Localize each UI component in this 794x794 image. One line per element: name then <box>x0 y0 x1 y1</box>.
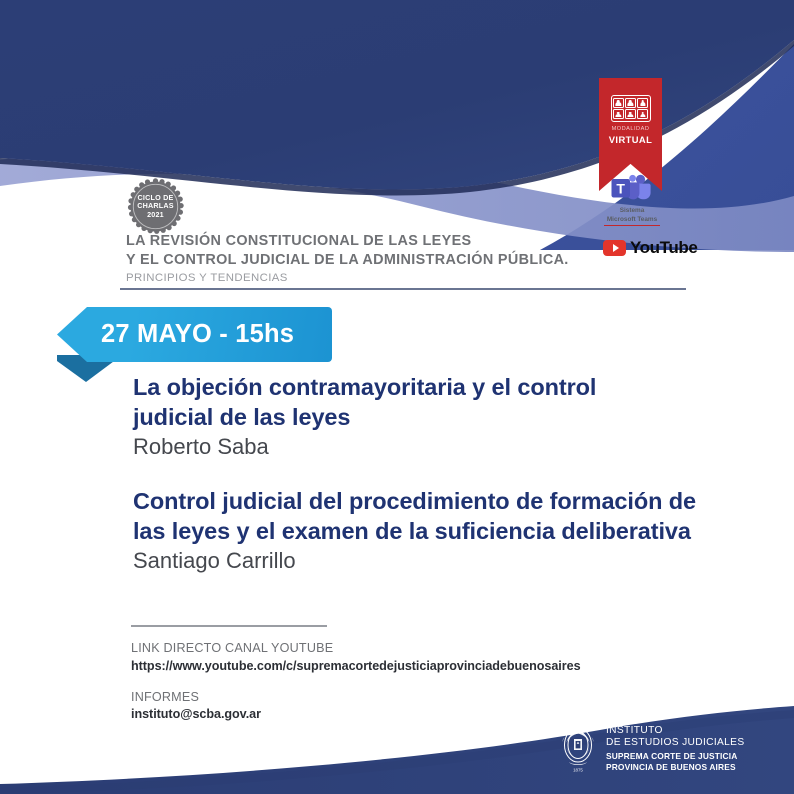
institution-line-1: INSTITUTO <box>606 725 744 737</box>
people-grid-cell <box>637 98 648 108</box>
institution-line-3: SUPREMA CORTE DE JUSTICIA <box>606 751 744 762</box>
ciclo-de-charlas-seal: CICLO DE CHARLAS 2021 <box>127 178 184 235</box>
platform-divider <box>604 225 660 226</box>
talk-title-line-2: judicial de las leyes <box>133 402 763 432</box>
talk-title-line-1: Control judicial del procedimiento de fo… <box>133 486 763 516</box>
people-grid-cell <box>625 109 636 119</box>
informes-email[interactable]: instituto@scba.gov.ar <box>131 706 691 724</box>
date-banner: 27 MAYO - 15hs <box>57 307 332 382</box>
institution-line-2: DE ESTUDIOS JUDICIALES <box>606 737 744 749</box>
poster-canvas: CICLO DE CHARLAS 2021 LA REVISIÓN CONSTI… <box>0 0 794 794</box>
youtube-play-triangle <box>613 244 619 252</box>
event-header: LA REVISIÓN CONSTITUCIONAL DE LAS LEYES … <box>126 232 686 284</box>
talk-speaker: Roberto Saba <box>133 433 763 462</box>
talks-list: La objeción contramayoritaria y el contr… <box>133 372 763 600</box>
talk-speaker: Santiago Carrillo <box>133 547 763 576</box>
teams-caption-line-1: Sistema <box>594 206 670 215</box>
modality-label: MODALIDAD <box>599 126 662 132</box>
banner-date-time: 27 MAYO - 15hs <box>101 320 294 349</box>
talk-item: Control judicial del procedimiento de fo… <box>133 486 763 576</box>
svg-text:1875: 1875 <box>573 768 583 773</box>
teams-caption: Sistema Microsoft Teams <box>594 206 670 225</box>
teams-caption-line-2: Microsoft Teams <box>594 215 670 224</box>
banner-ribbon: 27 MAYO - 15hs <box>57 307 332 362</box>
talk-title-line-1: La objeción contramayoritaria y el contr… <box>133 372 763 402</box>
footer-info: LINK DIRECTO CANAL YOUTUBE https://www.y… <box>131 639 691 724</box>
institution-logo: 1875 INSTITUTO DE ESTUDIOS JUDICIALES SU… <box>558 724 744 774</box>
youtube-play-icon <box>603 240 626 256</box>
scba-crest-icon: 1875 <box>558 724 598 774</box>
people-grid-icon <box>611 95 651 122</box>
header-title-line-1: LA REVISIÓN CONSTITUCIONAL DE LAS LEYES <box>126 232 686 251</box>
svg-text:T: T <box>616 180 625 196</box>
people-grid-cell <box>637 109 648 119</box>
header-title-line-2: Y EL CONTROL JUDICIAL DE LA ADMINISTRACI… <box>126 251 686 270</box>
informes-label: INFORMES <box>131 688 691 707</box>
header-subtitle: PRINCIPIOS Y TENDENCIAS <box>126 272 686 284</box>
talk-item: La objeción contramayoritaria y el contr… <box>133 372 763 462</box>
institution-text: INSTITUTO DE ESTUDIOS JUDICIALES SUPREMA… <box>606 725 744 773</box>
youtube-wordmark: YouTube <box>630 238 697 258</box>
seal-text: CICLO DE CHARLAS 2021 <box>127 178 184 235</box>
modality-value: VIRTUAL <box>599 134 662 145</box>
header-divider <box>120 288 686 290</box>
youtube-link-url[interactable]: https://www.youtube.com/c/supremacortede… <box>131 658 691 676</box>
people-grid-cell <box>613 109 624 119</box>
seal-line-3: 2021 <box>147 211 164 219</box>
people-grid-cell <box>625 98 636 108</box>
institution-line-4: PROVINCIA DE BUENOS AIRES <box>606 762 744 773</box>
youtube-link-label: LINK DIRECTO CANAL YOUTUBE <box>131 639 691 658</box>
youtube-badge[interactable]: YouTube <box>603 238 697 258</box>
people-grid-cell <box>613 98 624 108</box>
footer-divider <box>131 625 327 627</box>
microsoft-teams-icon: T <box>610 174 652 202</box>
footer-spacer <box>131 676 691 688</box>
talk-title-line-2: las leyes y el examen de la suficiencia … <box>133 516 763 546</box>
